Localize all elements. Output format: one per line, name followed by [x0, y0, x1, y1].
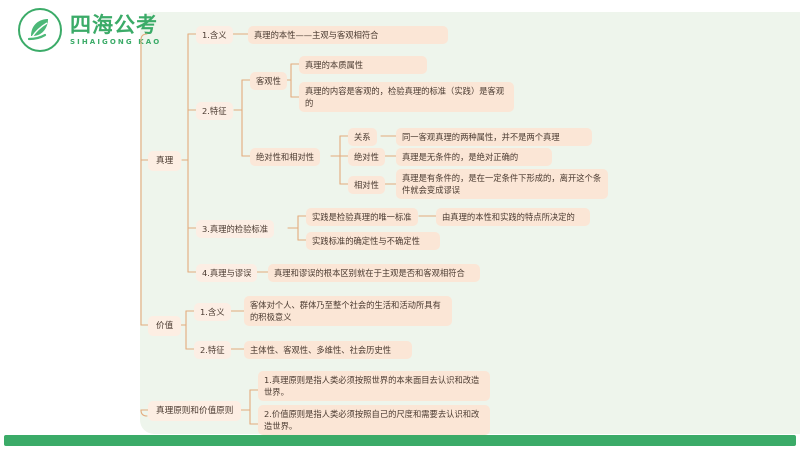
node-jianyan-biaozhun[interactable]: 3.真理的检验标准	[196, 220, 274, 238]
node-yuanze-detail-1[interactable]: 1.真理原则是指人类必须按照世界的本来面目去认识和改造世界。	[258, 371, 490, 401]
node-zhenli-hanyi[interactable]: 1.含义	[196, 26, 233, 44]
node-yuanze-detail-2[interactable]: 2.价值原则是指人类必须按照自己的尺度和需要去认识和改造世界。	[258, 405, 490, 435]
node-keguanxing-detail-1[interactable]: 真理的本质属性	[299, 56, 427, 74]
node-zhenli-hanyi-detail[interactable]: 真理的本性——主观与客观相符合	[248, 26, 448, 44]
node-xiangduixing-detail[interactable]: 真理是有条件的，是在一定条件下形成的，离开这个条件就会变成谬误	[396, 169, 608, 199]
node-jiazhi-hanyi[interactable]: 1.含义	[194, 303, 231, 321]
node-zhenli-miuwu[interactable]: 4.真理与谬误	[196, 264, 257, 282]
node-root-yuanze[interactable]: 真理原则和价值原则	[148, 401, 241, 421]
node-keguanxing-detail-2[interactable]: 真理的内容是客观的，检验真理的标准（实践）是客观的	[299, 82, 514, 112]
slide-canvas: 四海公考 SIHAIGONG KAO	[0, 0, 800, 450]
node-jueduixing-detail[interactable]: 真理是无条件的，是绝对正确的	[396, 148, 552, 166]
brand-name-cn: 四海公考	[70, 15, 161, 36]
node-jiazhi-tezheng[interactable]: 2.特征	[194, 341, 231, 359]
node-jueduixing[interactable]: 绝对性	[348, 148, 385, 166]
brand-name-en: SIHAIGONG KAO	[70, 39, 161, 46]
footer-accent-bar	[4, 435, 796, 446]
node-juedui-xiangdui[interactable]: 绝对性和相对性	[250, 148, 320, 166]
node-guanxi[interactable]: 关系	[348, 128, 377, 146]
node-jianyan-detail-1[interactable]: 实践是检验真理的唯一标准	[306, 208, 418, 226]
node-root-jiazhi[interactable]: 价值	[148, 316, 181, 336]
node-zhenli-tezheng[interactable]: 2.特征	[196, 102, 233, 120]
node-xiangduixing[interactable]: 相对性	[348, 176, 385, 194]
leaf-circle-icon	[18, 8, 62, 52]
node-root-zhenli[interactable]: 真理	[148, 151, 181, 171]
node-keguanxing[interactable]: 客观性	[250, 72, 287, 90]
node-jiazhi-hanyi-detail[interactable]: 客体对个人、群体乃至整个社会的生活和活动所具有的积极意义	[244, 296, 452, 326]
node-jianyan-detail-1-sub[interactable]: 由真理的本性和实践的特点所决定的	[436, 208, 590, 226]
brand-logo: 四海公考 SIHAIGONG KAO	[18, 8, 161, 52]
node-jiazhi-tezheng-detail[interactable]: 主体性、客观性、多维性、社会历史性	[244, 341, 412, 359]
node-jianyan-detail-2[interactable]: 实践标准的确定性与不确定性	[306, 232, 440, 250]
node-guanxi-detail[interactable]: 同一客观真理的两种属性，并不是两个真理	[396, 128, 592, 146]
node-zhenli-miuwu-detail[interactable]: 真理和谬误的根本区别就在于主观是否和客观相符合	[268, 264, 480, 282]
